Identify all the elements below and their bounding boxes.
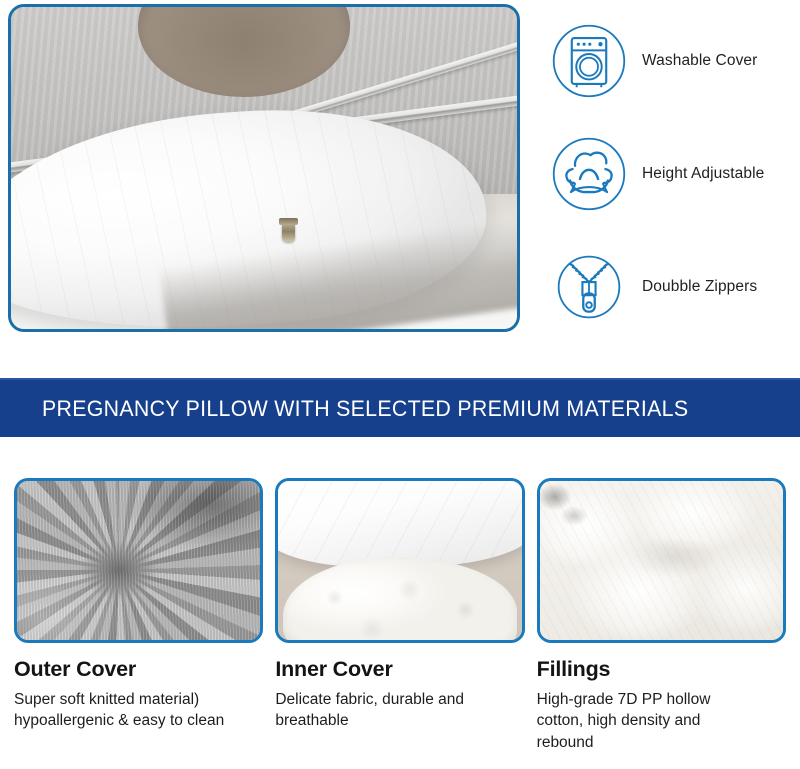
product-feature-page: Washable Cover Height Adjustable: [0, 0, 800, 769]
feature-item-double-zippers: Doubble Zippers: [548, 239, 800, 336]
material-title: Fillings: [537, 657, 786, 682]
hero-zipper-pull-icon: [282, 223, 295, 242]
banner-title: PREGNANCY PILLOW WITH SELECTED PREMIUM M…: [42, 396, 688, 422]
zipper-icon: [548, 246, 630, 328]
materials-columns: Outer Cover Super soft knitted material)…: [0, 478, 800, 769]
washing-machine-icon: [548, 20, 630, 102]
hero-photo-content: [11, 7, 517, 329]
material-column-inner-cover: Inner Cover Delicate fabric, durable and…: [275, 478, 524, 769]
feature-label: Height Adjustable: [642, 165, 764, 183]
material-title: Inner Cover: [275, 657, 524, 682]
pillow-height-icon: [548, 133, 630, 215]
inner-cover-cloth: [275, 478, 524, 567]
material-description: Super soft knitted material) hypoallerge…: [14, 689, 263, 732]
feature-label: Doubble Zippers: [642, 278, 757, 296]
feature-item-height-adjustable: Height Adjustable: [548, 125, 800, 222]
inner-cover-fibre: [283, 557, 517, 643]
knit-fabric-texture: [17, 481, 260, 640]
material-column-fillings: Fillings High-grade 7D PP hollow cotton,…: [537, 478, 786, 769]
section-banner: PREGNANCY PILLOW WITH SELECTED PREMIUM M…: [0, 378, 800, 437]
hero-product-photo: [8, 4, 520, 332]
feature-label: Washable Cover: [642, 52, 757, 70]
feature-item-washable-cover: Washable Cover: [548, 12, 800, 109]
inner-cover-photo: [275, 478, 524, 643]
material-description: High-grade 7D PP hollow cotton, high den…: [537, 689, 752, 753]
material-title: Outer Cover: [14, 657, 263, 682]
hollow-cotton-texture: [540, 481, 783, 640]
fillings-photo: [537, 478, 786, 643]
inner-cover-texture: [278, 481, 521, 640]
material-description: Delicate fabric, durable and breathable: [275, 689, 524, 732]
outer-cover-photo: [14, 478, 263, 643]
feature-list: Washable Cover Height Adjustable: [548, 6, 800, 336]
material-column-outer-cover: Outer Cover Super soft knitted material)…: [14, 478, 263, 769]
